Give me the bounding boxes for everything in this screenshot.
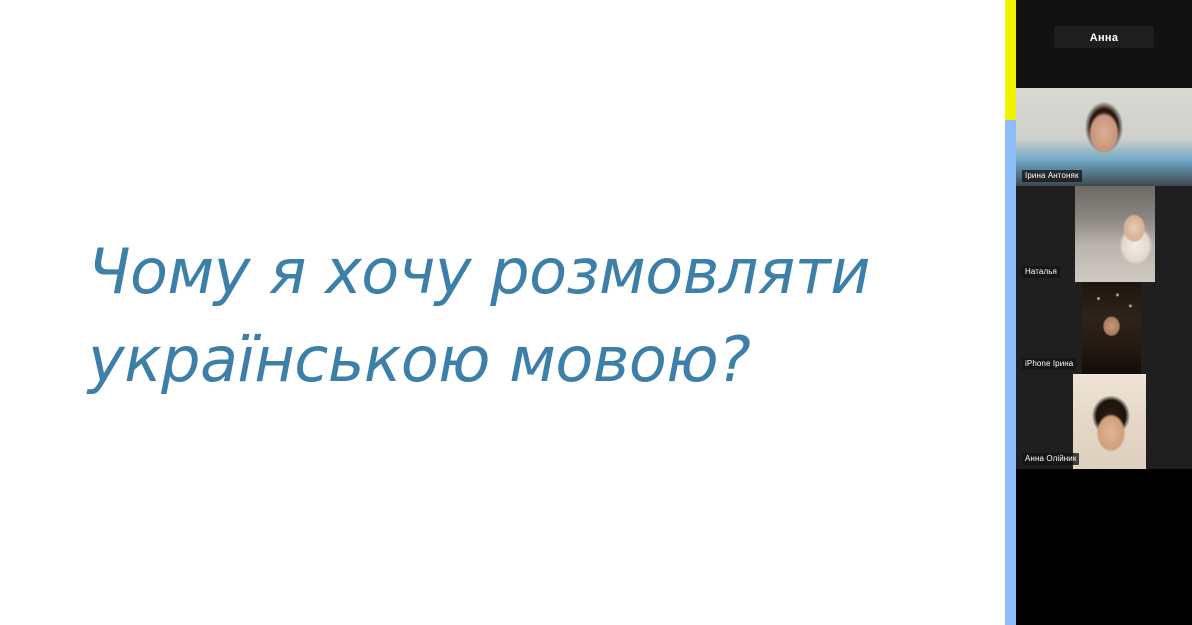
accent-bar-blue — [1005, 0, 1016, 625]
video-feed-natalia — [1075, 186, 1155, 282]
accent-bar-yellow — [1005, 0, 1016, 120]
participant-name-natalia: Наталья — [1022, 266, 1060, 278]
video-feed-iphone-iryna — [1082, 282, 1141, 374]
participant-tile-natalia[interactable]: Наталья — [1016, 186, 1192, 282]
participant-tile-iphone-iryna[interactable]: iPhone Ірина — [1016, 282, 1192, 374]
participant-tile-anna-oliinyk[interactable]: Анна Олійник — [1016, 374, 1192, 469]
participant-name-anna-oliinyk: Анна Олійник — [1022, 453, 1079, 465]
participant-name-iphone-iryna: iPhone Ірина — [1022, 358, 1076, 370]
participant-name-irina-antoniak: Ірина Антоняк — [1022, 170, 1082, 182]
screen-capture: Чому я хочу розмовляти українською мовою… — [0, 0, 1192, 625]
participant-tile-anna[interactable]: Анна — [1016, 0, 1192, 88]
slide-title: Чому я хочу розмовляти українською мовою… — [88, 228, 918, 404]
participant-tile-irina-antoniak[interactable]: Ірина Антоняк — [1016, 88, 1192, 186]
presentation-slide: Чому я хочу розмовляти українською мовою… — [0, 0, 1005, 625]
video-call-participant-panel[interactable]: Анна Ірина Антоняк Наталья iPhone Ірина … — [1016, 0, 1192, 625]
participant-name-anna: Анна — [1016, 32, 1192, 44]
panel-empty-area — [1016, 469, 1192, 625]
video-feed-anna-oliinyk — [1073, 374, 1146, 469]
